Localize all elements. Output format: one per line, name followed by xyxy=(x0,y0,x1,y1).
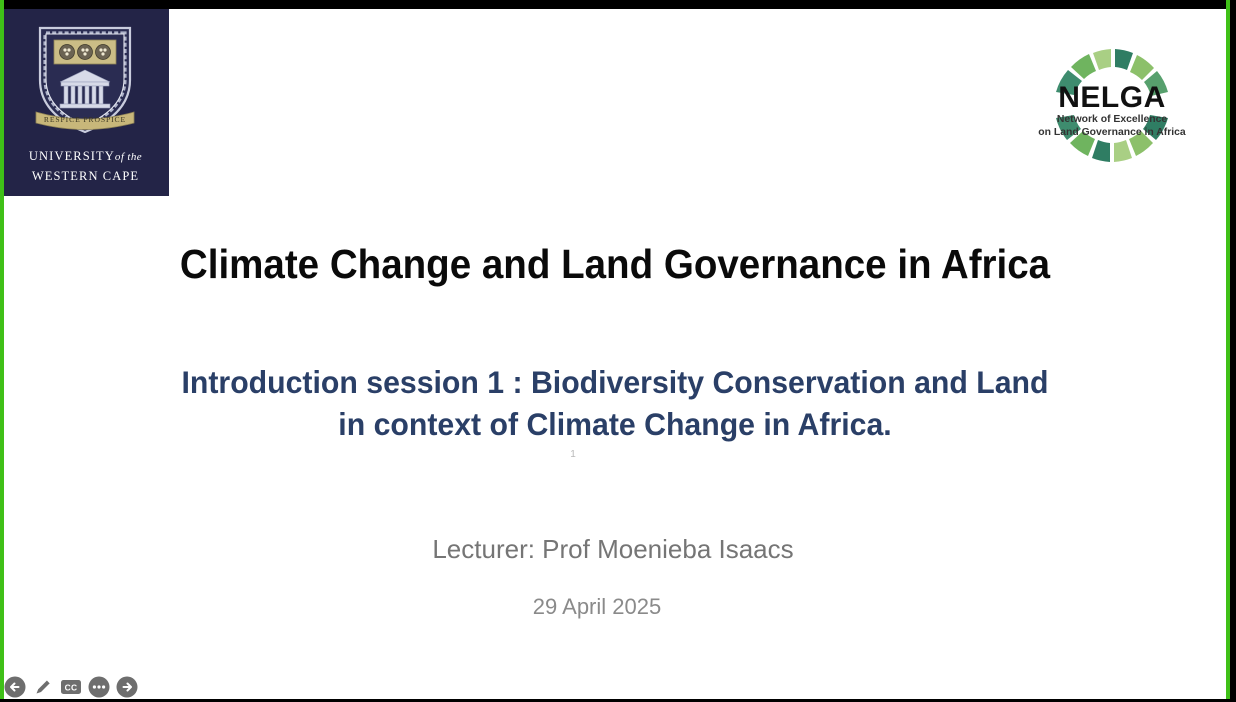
more-options-icon[interactable] xyxy=(88,676,110,698)
more-options-button[interactable] xyxy=(88,676,110,698)
slide-title: Climate Change and Land Governance in Af… xyxy=(39,241,1191,288)
nelga-tagline-line2: on Land Governance in Africa xyxy=(1038,127,1185,138)
slide-subtitle: Introduction session 1 : Biodiversity Co… xyxy=(171,361,1060,445)
presentation-toolbar: CC xyxy=(4,672,138,702)
closed-captions-button[interactable]: CC xyxy=(60,676,82,698)
closed-captions-icon[interactable]: CC xyxy=(60,676,82,698)
letterbox-right xyxy=(1230,0,1236,699)
forward-arrow-icon[interactable] xyxy=(116,676,138,698)
footnote-marker: 1 xyxy=(2,449,1144,460)
nelga-logo: NELGA Network of Excellence on Land Gove… xyxy=(1032,42,1192,170)
uwc-motto-text: RESPICE PROSPICE xyxy=(44,115,126,124)
uwc-name-line2: WESTERN CAPE xyxy=(32,169,139,183)
nelga-wordmark: NELGA xyxy=(1032,81,1192,115)
back-arrow-icon[interactable] xyxy=(4,676,26,698)
date-line: 29 April 2025 xyxy=(2,594,1192,620)
presentation-slide: RESPICE PROSPICE UNIVERSITYof the WESTER… xyxy=(2,9,1228,699)
pencil-icon[interactable] xyxy=(32,676,54,698)
uwc-crest-icon: RESPICE PROSPICE xyxy=(32,22,138,137)
nelga-tagline-line1: Network of Excellence xyxy=(1057,114,1167,125)
nelga-tagline: Network of Excellence on Land Governance… xyxy=(1032,113,1192,139)
uwc-name: UNIVERSITYof the WESTERN CAPE xyxy=(2,147,169,186)
share-border-left xyxy=(0,0,4,699)
uwc-name-line1: UNIVERSITY xyxy=(29,149,115,163)
screen-share-frame: RESPICE PROSPICE UNIVERSITYof the WESTER… xyxy=(0,0,1236,699)
annotate-button[interactable] xyxy=(32,676,54,698)
back-arrow-button[interactable] xyxy=(4,676,26,698)
uwc-name-of-the: of the xyxy=(115,151,142,163)
lecturer-line: Lecturer: Prof Moenieba Isaacs xyxy=(2,534,1224,565)
forward-arrow-button[interactable] xyxy=(116,676,138,698)
uwc-logo-block: RESPICE PROSPICE UNIVERSITYof the WESTER… xyxy=(2,9,169,196)
letterbox-top xyxy=(0,0,1236,9)
svg-text:CC: CC xyxy=(65,683,78,693)
